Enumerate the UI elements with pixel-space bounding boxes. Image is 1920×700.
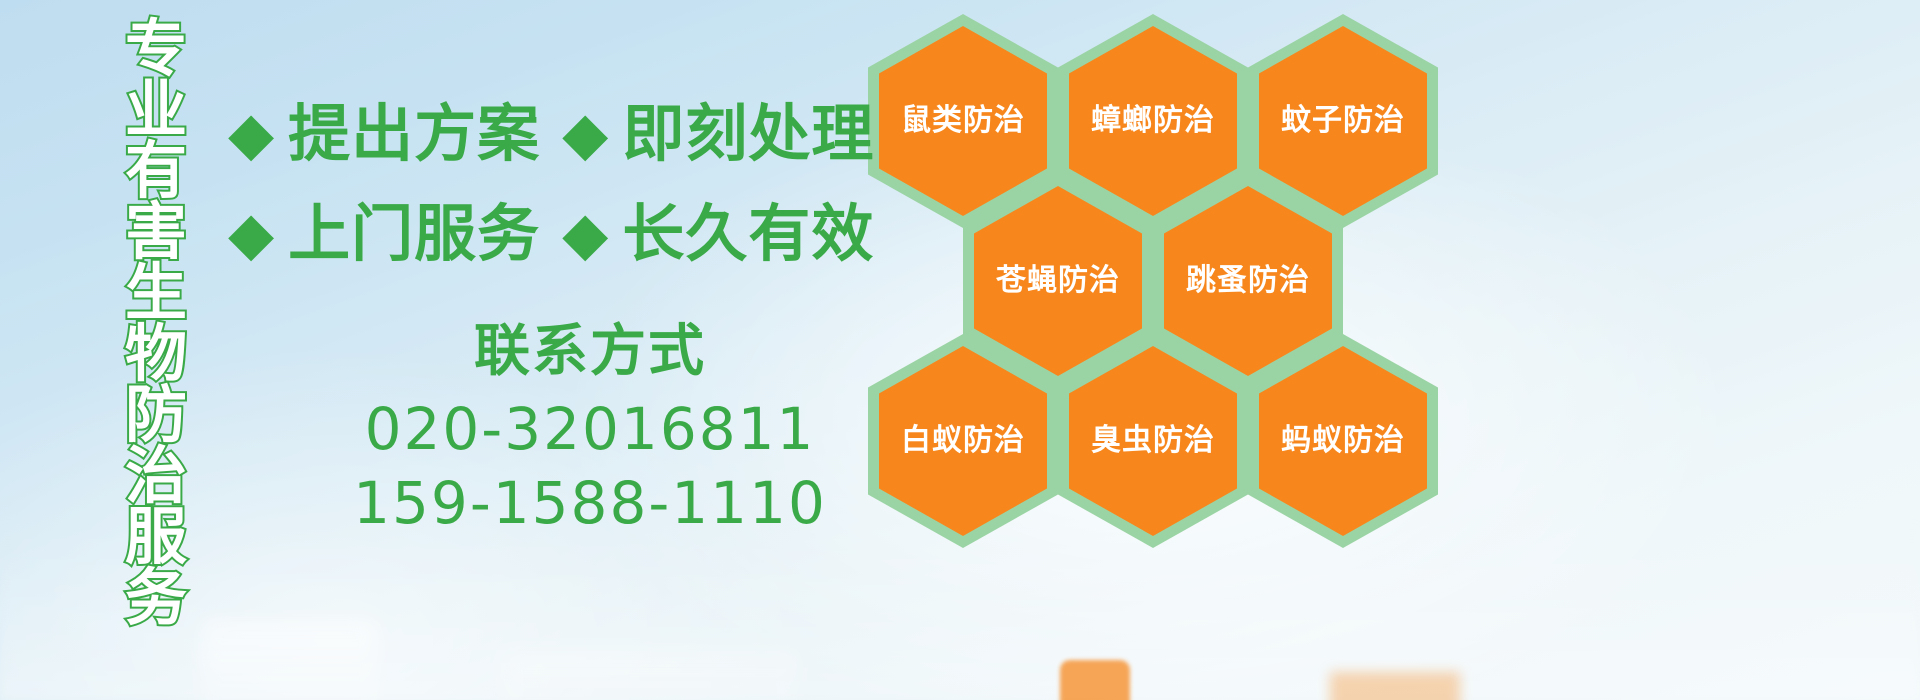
feature-row: ◆ 上门服务 ◆ 长久有效 [228,184,878,284]
feature-item: ◆ 即刻处理 [562,101,874,167]
contact-heading: 联系方式 [300,318,880,386]
vertical-headline-char: 务 [125,567,187,629]
feature-label: 长久有效 [622,201,874,267]
service-honeycomb: 鼠类防治 蟑螂防治 蚊子防治 苍蝇防治 跳蚤防治 白蚁防治 [856,4,1456,544]
background-ghost-hex-partial-right [1330,672,1460,700]
diamond-icon: ◆ [562,204,608,264]
feature-item: ◆ 提出方案 [228,101,540,167]
vertical-headline-char: 生 [125,262,187,324]
phone-mobile[interactable]: 159-1588-1110 [300,466,880,540]
hex-inner: 白蚁防治 [879,346,1047,536]
feature-row: ◆ 提出方案 ◆ 即刻处理 [228,84,878,184]
vertical-headline-char: 服 [125,506,187,568]
service-label: 臭虫防治 [1091,424,1215,458]
service-label: 鼠类防治 [901,104,1025,138]
promo-banner: 专 业 有 害 生 物 防 治 服 务 ◆ 提出方案 ◆ 即刻处理 ◆ 上门服务 [0,0,1920,700]
vertical-headline-char: 有 [125,140,187,202]
feature-list: ◆ 提出方案 ◆ 即刻处理 ◆ 上门服务 ◆ 长久有效 [228,84,878,284]
background-ghost-shape-center [500,650,800,700]
hex-inner: 跳蚤防治 [1164,186,1332,376]
feature-label: 上门服务 [288,201,540,267]
diamond-icon: ◆ [228,104,274,164]
background-haze [0,520,1920,700]
feature-item: ◆ 长久有效 [562,201,874,267]
feature-label: 提出方案 [288,101,540,167]
feature-item: ◆ 上门服务 [228,201,540,267]
vertical-headline-char: 治 [125,445,187,507]
service-label: 蚂蚁防治 [1281,424,1405,458]
vertical-headline-char: 专 [125,18,187,80]
feature-label: 即刻处理 [622,101,874,167]
service-label: 蚊子防治 [1281,104,1405,138]
diamond-icon: ◆ [228,204,274,264]
hex-inner: 苍蝇防治 [974,186,1142,376]
hex-inner: 蚊子防治 [1259,26,1427,216]
vertical-headline-char: 物 [125,323,187,385]
service-label: 白蚁防治 [901,424,1025,458]
hex-inner: 臭虫防治 [1069,346,1237,536]
service-label: 跳蚤防治 [1186,264,1310,298]
vertical-headline-char: 业 [125,79,187,141]
hex-inner: 鼠类防治 [879,26,1047,216]
diamond-icon: ◆ [562,104,608,164]
background-ghost-shape-left [200,620,380,700]
hex-inner: 蟑螂防治 [1069,26,1237,216]
vertical-headline: 专 业 有 害 生 物 防 治 服 务 [108,18,204,578]
background-ghost-hex-partial [1060,660,1130,700]
vertical-headline-char: 害 [125,201,187,263]
vertical-headline-char: 防 [125,384,187,446]
phone-landline[interactable]: 020-32016811 [300,392,880,466]
service-label: 苍蝇防治 [996,264,1120,298]
service-label: 蟑螂防治 [1091,104,1215,138]
contact-block: 联系方式 020-32016811 159-1588-1110 [300,318,880,540]
hex-inner: 蚂蚁防治 [1259,346,1427,536]
